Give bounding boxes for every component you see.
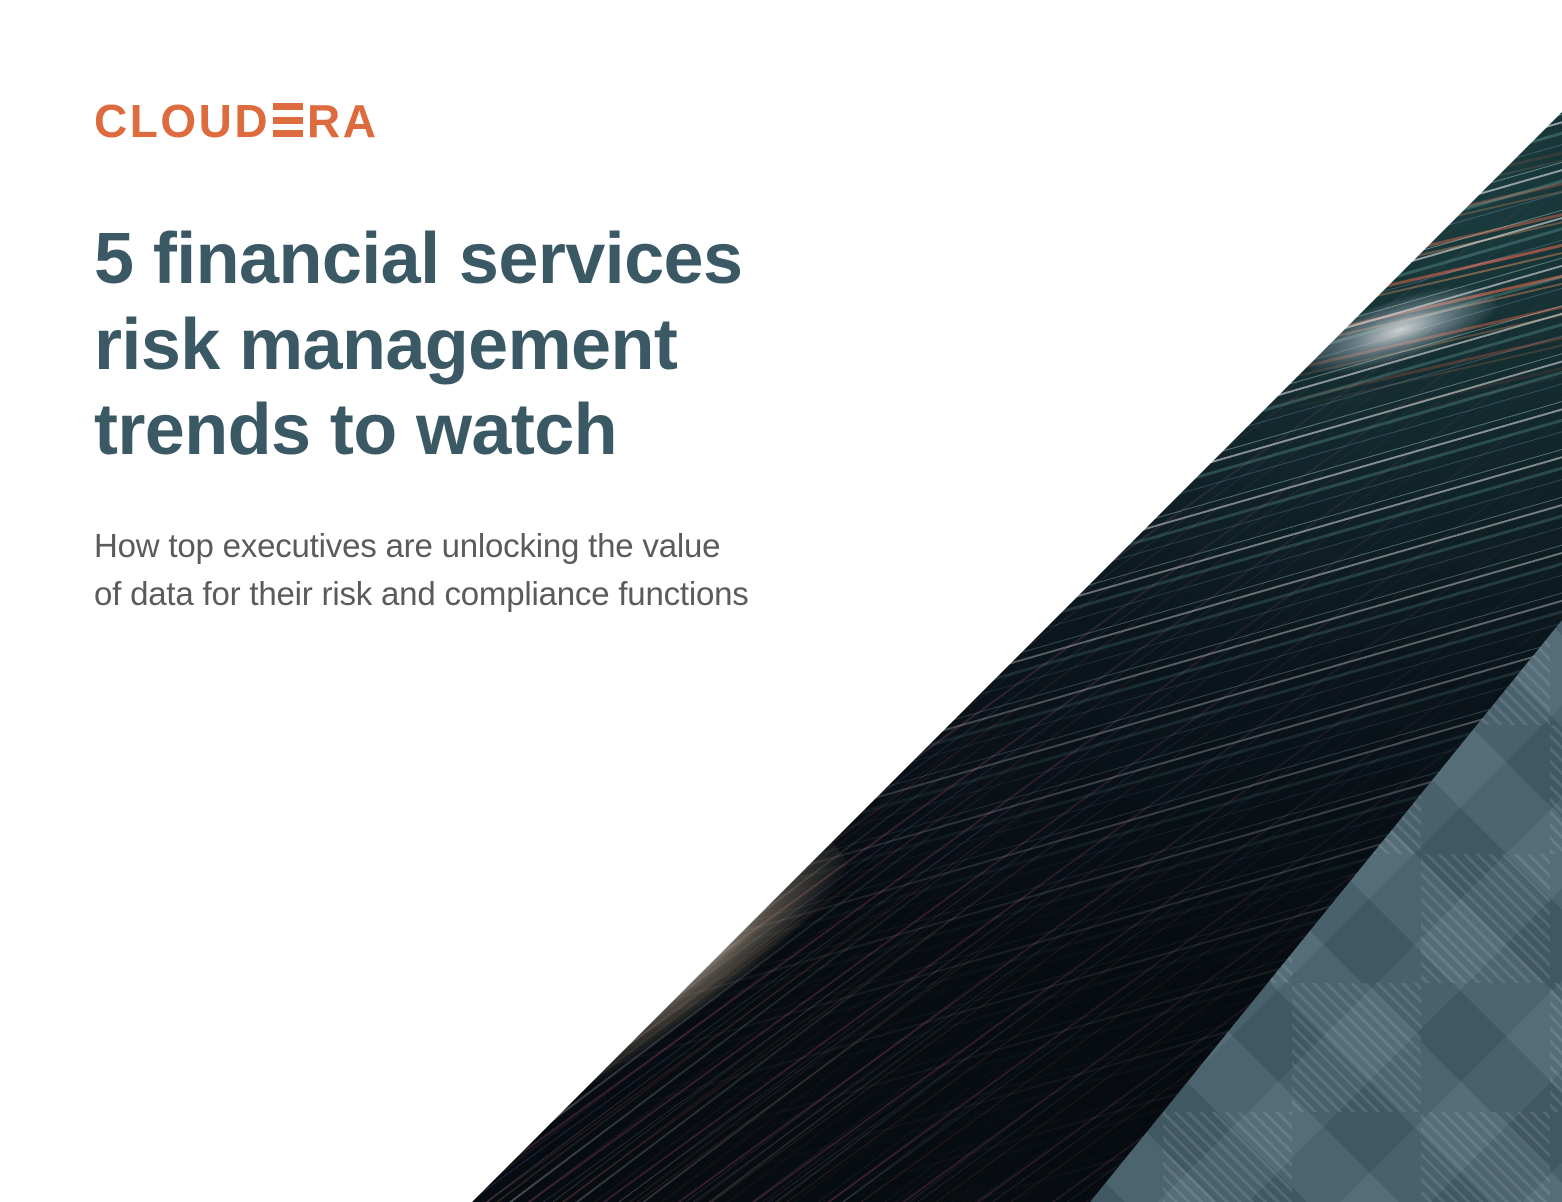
- cloudera-three-bar-e-icon: [273, 103, 303, 137]
- cloudera-logo-text-last: RA: [307, 98, 378, 144]
- ebook-cover-page: CLOUD RA 5 financial services risk manag…: [0, 0, 1562, 1202]
- e-bar-top: [273, 103, 303, 110]
- cover-subheadline: How top executives are unlocking the val…: [94, 522, 914, 618]
- e-bar-bottom: [273, 130, 303, 137]
- headline-line-2: risk management: [94, 303, 884, 389]
- cloudera-logo[interactable]: CLOUD RA: [94, 98, 914, 144]
- cover-headline: 5 financial services risk management tre…: [94, 217, 884, 474]
- e-bar-middle: [273, 117, 303, 124]
- headline-line-1: 5 financial services: [94, 217, 884, 303]
- subheadline-line-2: of data for their risk and compliance fu…: [94, 570, 914, 618]
- cloudera-logo-wordmark: CLOUD RA: [94, 98, 379, 144]
- cloudera-logo-text-first: CLOUD: [94, 98, 270, 144]
- cover-content-column: CLOUD RA 5 financial services risk manag…: [94, 0, 914, 618]
- headline-line-3: trends to watch: [94, 388, 884, 474]
- subheadline-line-1: How top executives are unlocking the val…: [94, 522, 914, 570]
